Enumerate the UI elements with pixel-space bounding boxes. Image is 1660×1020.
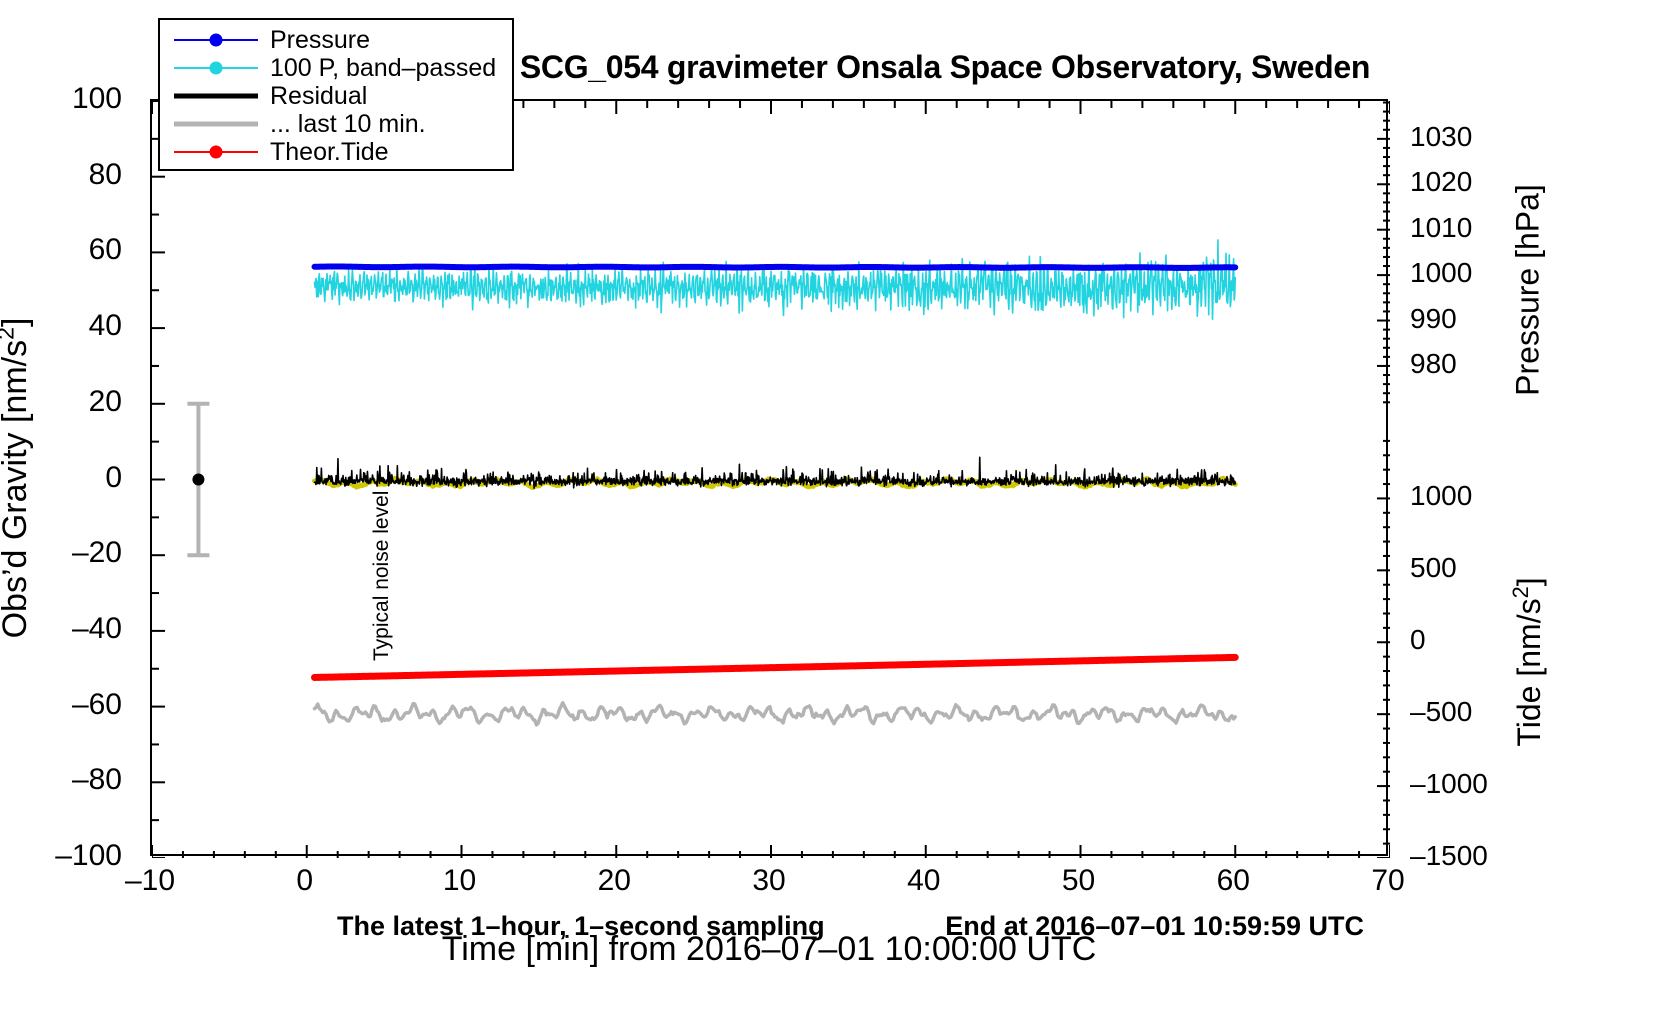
- series-last-10-min: [314, 703, 1235, 725]
- pressure-tick-label: 980: [1410, 350, 1457, 378]
- legend-label: 100 P, band–passed: [258, 54, 496, 83]
- noise-level-label: Typical noise level: [370, 491, 394, 661]
- y-tick-label: –100: [55, 841, 122, 871]
- x-tick-label: 30: [752, 866, 785, 896]
- y-tick-label: 0: [105, 463, 122, 493]
- legend-label: Pressure: [258, 26, 370, 55]
- y-tick-label: –20: [72, 538, 122, 568]
- legend-swatch-icon: [174, 85, 258, 107]
- y-tick-label: 80: [89, 160, 122, 190]
- y-tick-label: 100: [72, 84, 122, 114]
- y-tick-label: 20: [89, 387, 122, 417]
- legend-line: [174, 94, 258, 99]
- tide-tick-label: 0: [1410, 626, 1426, 654]
- legend-item-2[interactable]: Residual: [160, 82, 512, 110]
- legend-swatch-icon: [174, 57, 258, 79]
- tide-tick-label: –500: [1410, 698, 1472, 726]
- legend-item-0[interactable]: Pressure: [160, 26, 512, 54]
- y-tick-label: –40: [72, 614, 122, 644]
- legend-swatch-icon: [174, 141, 258, 163]
- legend-item-4[interactable]: Theor.Tide: [160, 138, 512, 166]
- legend-label: ... last 10 min.: [258, 110, 426, 139]
- y-tick-label: 60: [89, 235, 122, 265]
- x-axis-tick-labels: –10010203040506070: [150, 866, 1388, 906]
- series-theor-tide: [314, 657, 1235, 677]
- y-tick-label: –60: [72, 690, 122, 720]
- x-tick-label: 20: [598, 866, 631, 896]
- pressure-tick-label: 990: [1410, 305, 1457, 333]
- x-tick-label: 0: [296, 866, 313, 896]
- series-pressure: [314, 267, 1235, 268]
- noise-level-indicator: [187, 404, 209, 555]
- y-axis-tick-labels: –100–80–60–40–20020406080100: [0, 99, 138, 856]
- end-time-note: End at 2016–07–01 10:59:59 UTC: [945, 911, 1364, 942]
- pressure-tick-label: 1030: [1410, 123, 1472, 151]
- legend-line: [174, 122, 258, 127]
- legend-swatch-icon: [174, 29, 258, 51]
- x-tick-label: 50: [1062, 866, 1095, 896]
- legend-label: Theor.Tide: [258, 138, 389, 167]
- plot-canvas: [152, 101, 1390, 858]
- data-series-group: [314, 240, 1235, 725]
- legend: Pressure100 P, band–passedResidual... la…: [158, 18, 514, 171]
- x-tick-label: 10: [443, 866, 476, 896]
- tide-tick-label: –1000: [1410, 770, 1488, 798]
- x-tick-label: 60: [1217, 866, 1250, 896]
- pressure-tick-label: 1010: [1410, 214, 1472, 242]
- tide-tick-label: 500: [1410, 554, 1457, 582]
- x-tick-label: 70: [1371, 866, 1404, 896]
- y-tick-label: –80: [72, 765, 122, 795]
- tide-tick-label: –1500: [1410, 842, 1488, 870]
- plot-area: Typical noise level The latest 1–hour, 1…: [150, 99, 1388, 856]
- x-tick-label: –10: [125, 866, 175, 896]
- pressure-tick-label: 1020: [1410, 168, 1472, 196]
- series-bandpassed: [314, 240, 1235, 319]
- legend-item-3[interactable]: ... last 10 min.: [160, 110, 512, 138]
- right-axis-tick-labels: 9809901000101010201030–1500–1000–5000500…: [1402, 99, 1532, 856]
- y-tick-label: 40: [89, 311, 122, 341]
- legend-item-1[interactable]: 100 P, band–passed: [160, 54, 512, 82]
- legend-marker-dot-icon: [210, 34, 223, 47]
- page-title: SCG_054 gravimeter Onsala Space Observat…: [520, 49, 1370, 86]
- x-tick-label: 40: [907, 866, 940, 896]
- legend-marker-dot-icon: [210, 62, 223, 75]
- pressure-tick-label: 1000: [1410, 259, 1472, 287]
- legend-label: Residual: [258, 82, 367, 111]
- tide-tick-label: 1000: [1410, 482, 1472, 510]
- legend-swatch-icon: [174, 113, 258, 135]
- legend-marker-dot-icon: [210, 146, 223, 159]
- sampling-note: The latest 1–hour, 1–second sampling: [337, 911, 825, 942]
